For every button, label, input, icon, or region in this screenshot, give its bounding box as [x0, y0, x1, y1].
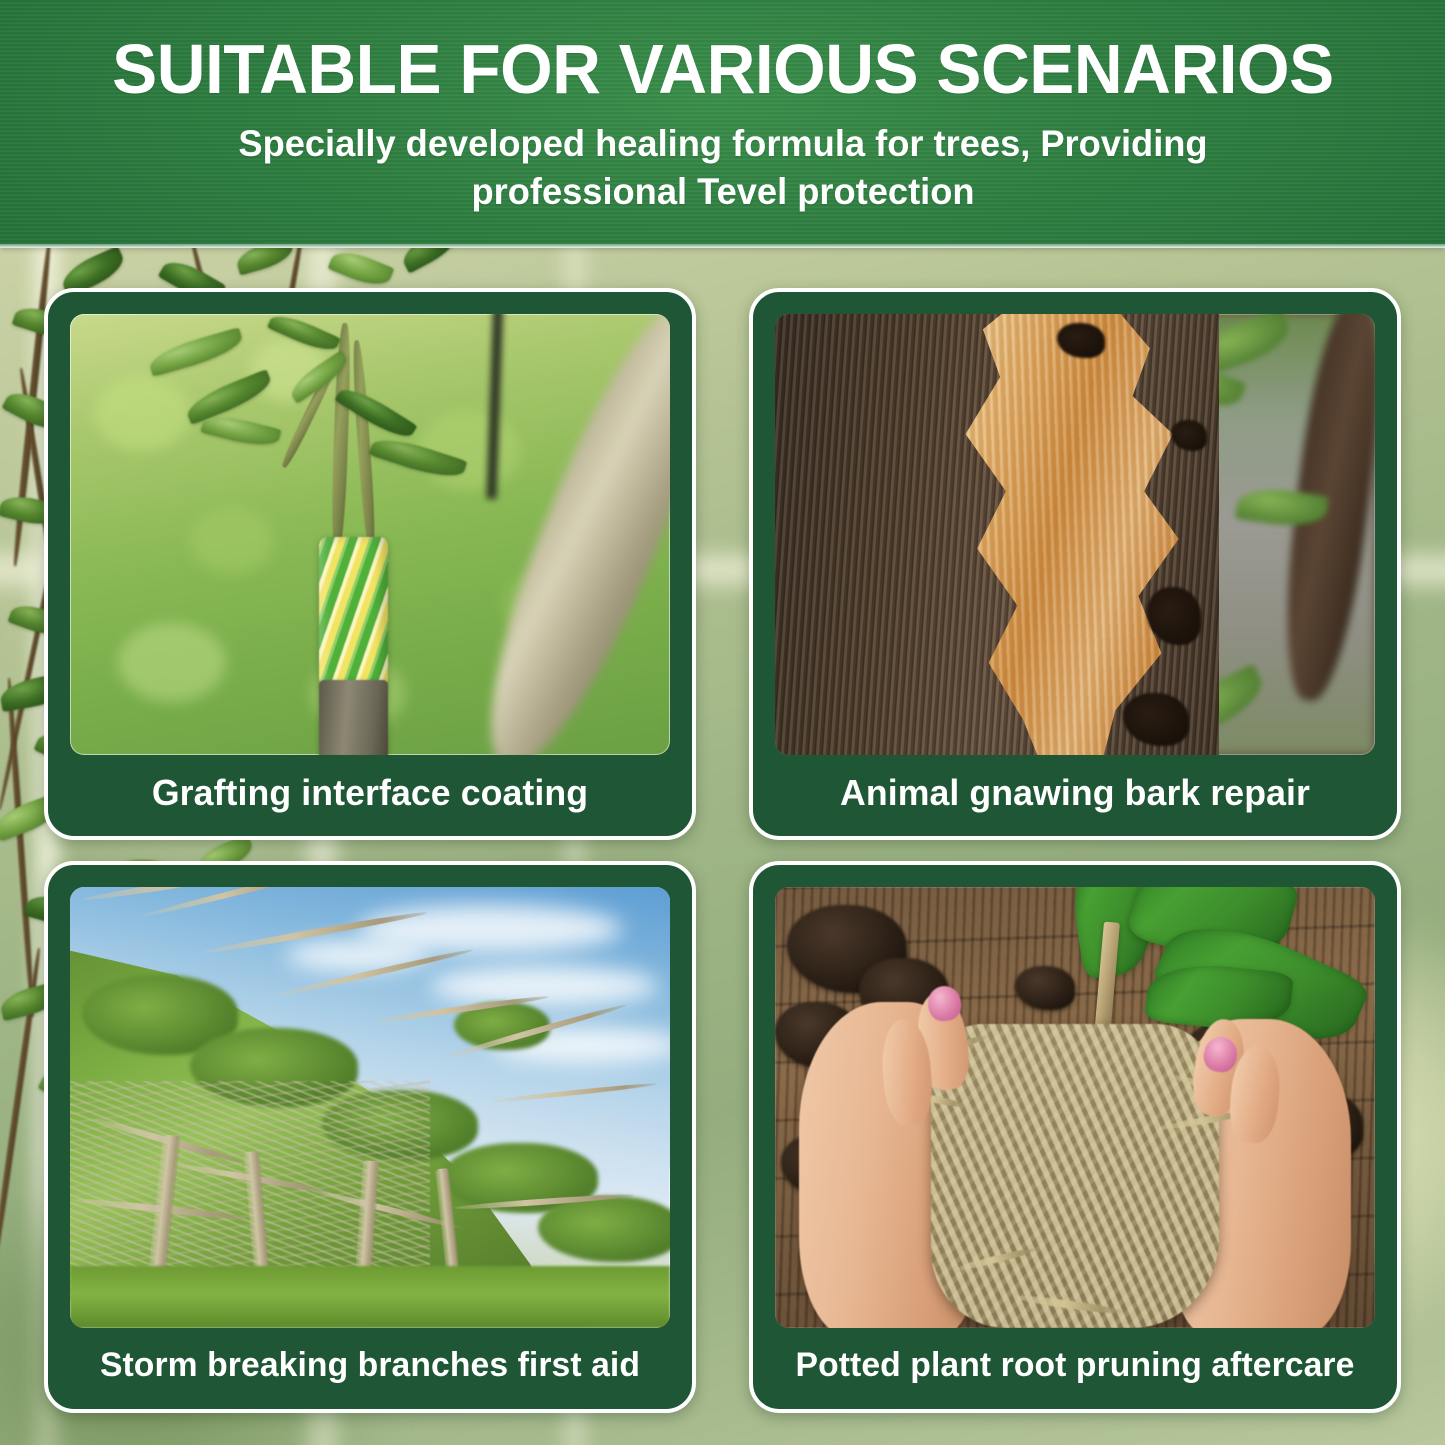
grafted-sapling-with-grafting-tape-photo — [70, 314, 670, 755]
grafting-tape-wrap — [319, 537, 388, 687]
bokeh-spot — [118, 623, 226, 702]
page-subtitle: Specially developed healing formula for … — [144, 120, 1300, 216]
page-title: SUITABLE FOR VARIOUS SCENARIOS — [112, 34, 1334, 104]
pruned-orchid-root-ball — [931, 1024, 1219, 1328]
scenario-card-grafting[interactable]: Grafting interface coating — [44, 288, 696, 840]
scenario-card-bark-repair[interactable]: Animal gnawing bark repair — [749, 288, 1401, 840]
scenario-caption-bark-repair: Animal gnawing bark repair — [778, 755, 1372, 836]
tree-trunk-stripped-bark-wound-photo — [775, 314, 1375, 755]
plant-stem — [6, 678, 36, 1018]
header-banner: SUITABLE FOR VARIOUS SCENARIOS Specially… — [0, 0, 1445, 248]
rootstock-trunk — [319, 680, 388, 755]
charred-bark-patch — [1171, 420, 1207, 451]
bokeh-spot — [94, 376, 190, 451]
cloud — [430, 966, 658, 1006]
foreground-grass — [70, 1266, 670, 1328]
wind-bent-trees-on-hillside-photo — [70, 887, 670, 1328]
plant-leaf — [398, 248, 463, 274]
scenario-card-root-pruning[interactable]: Potted plant root pruning aftercare — [749, 861, 1401, 1413]
plant-leaf — [328, 248, 395, 292]
scenario-caption-grafting: Grafting interface coating — [73, 755, 667, 836]
moss-tuft — [538, 1196, 670, 1262]
plant-leaf — [234, 248, 296, 276]
scenario-caption-root-pruning: Potted plant root pruning aftercare — [778, 1328, 1372, 1409]
infographic-page: SUITABLE FOR VARIOUS SCENARIOS Specially… — [0, 0, 1445, 1445]
scenario-card-storm-branches[interactable]: Storm breaking branches first aid — [44, 861, 696, 1413]
scenario-caption-storm-branches: Storm breaking branches first aid — [73, 1328, 667, 1409]
bokeh-spot — [190, 508, 274, 574]
scenario-card-grid: Grafting interface coating Animal gnawin… — [44, 288, 1401, 1413]
hands-holding-pruned-orchid-roots-photo — [775, 887, 1375, 1328]
